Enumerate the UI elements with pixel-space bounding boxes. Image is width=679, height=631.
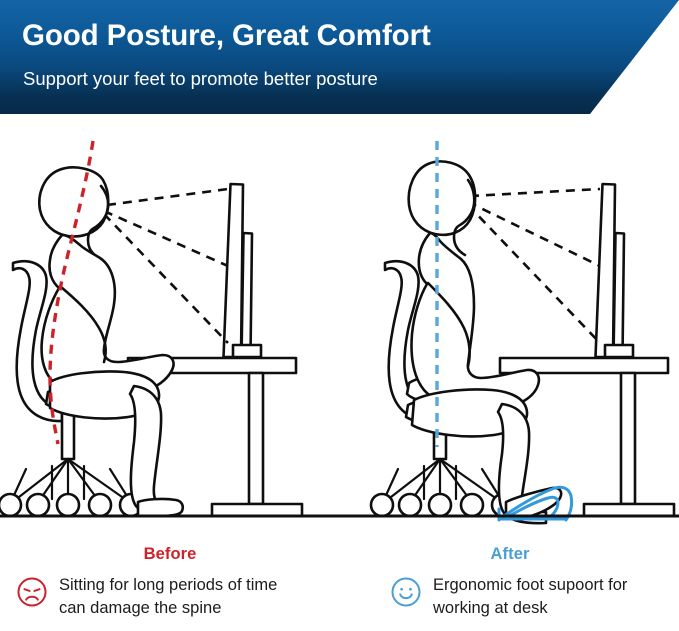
before-caption-line-1: Sitting for long periods of time (59, 574, 277, 597)
before-scene (0, 141, 302, 516)
before-caption-line-2: can damage the spine (59, 597, 277, 620)
before-caption-body: Sitting for long periods of time can dam… (0, 574, 356, 619)
after-person-upright (409, 161, 561, 523)
before-caption-column: Before Sitting for long periods of time … (0, 529, 340, 631)
illustration-canvas: .ln { fill:none; stroke:#0f0f0f; stroke-… (0, 114, 679, 529)
sad-face-icon (16, 576, 48, 608)
page-title: Good Posture, Great Comfort (22, 19, 431, 53)
before-caption-text: Sitting for long periods of time can dam… (59, 574, 277, 619)
header-banner: Good Posture, Great Comfort Support your… (0, 0, 679, 114)
after-monitor (596, 184, 634, 357)
after-caption-column: After Ergonomic foot supoort for working… (340, 529, 679, 631)
before-sight-lines (104, 189, 228, 343)
page-subtitle: Support your feet to promote better post… (23, 68, 378, 90)
after-caption-body: Ergonomic foot supoort for working at de… (340, 574, 679, 619)
before-heading: Before (0, 545, 340, 564)
after-scene (371, 141, 674, 523)
happy-face-icon (390, 576, 422, 608)
after-caption-line-1: Ergonomic foot supoort for (433, 574, 627, 597)
before-monitor (224, 184, 262, 357)
after-caption-text: Ergonomic foot supoort for working at de… (433, 574, 627, 619)
after-heading: After (340, 545, 679, 564)
header-text-group: Good Posture, Great Comfort Support your… (22, 0, 582, 114)
after-sight-lines (468, 189, 600, 343)
after-caption-line-2: working at desk (433, 597, 627, 620)
caption-area: Before Sitting for long periods of time … (0, 529, 679, 631)
posture-comparison-illustration: .ln { fill:none; stroke:#0f0f0f; stroke-… (0, 114, 679, 529)
